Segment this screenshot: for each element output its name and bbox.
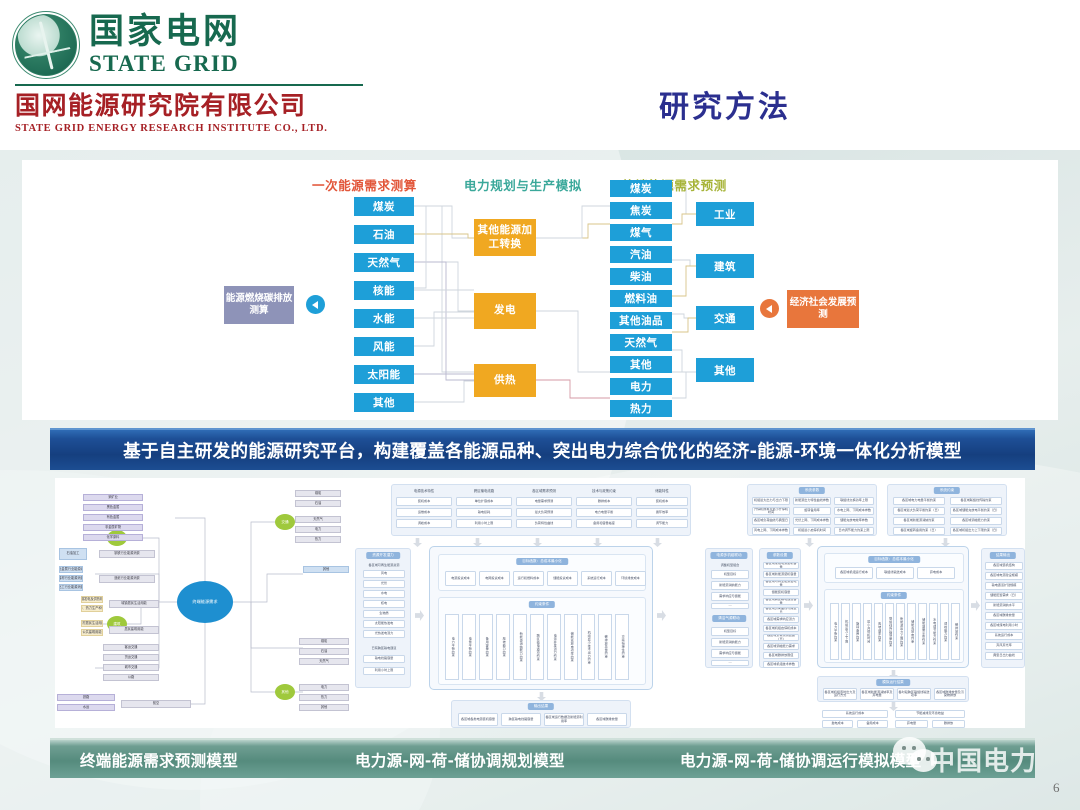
objective-cell: 环境排放成本 [615, 571, 646, 586]
param-cell: 装机成本 [396, 497, 452, 506]
param-cell: 输电损耗 [456, 508, 512, 517]
constraint-cell: 旋转备用约束 [852, 603, 861, 660]
constraint-cell: 电力平衡约束 [830, 603, 839, 660]
param-cell: 各区域碳排放限值 [763, 652, 799, 659]
final-energy-item: 天然气 [610, 334, 672, 351]
flow-arrow-icon [413, 538, 422, 547]
section-head: 调整机型组合 [709, 562, 751, 567]
constraint-cell: 机组最小技术出力约束 [581, 614, 595, 680]
resource-cell: 核电 [363, 600, 405, 608]
carbon-emission-box: 能源燃烧碳排放测算 [224, 286, 294, 324]
model-names-banner: 终端能源需求预测模型 电力源-网-荷-储协调规划模型 电力源-网-荷-储协调运行… [50, 738, 1035, 778]
constraint-cell: 机组出力上下限 [841, 603, 850, 660]
output-cell: 各区域碳排放量及污染物排放 [934, 688, 966, 700]
param-cell: 碳排成本 [576, 497, 632, 506]
sector-item: 交通 [696, 306, 754, 330]
result-cell: 系统运行成本 [985, 632, 1023, 640]
objective-cell: 电源投资成本 [445, 571, 476, 586]
energy-flow-diagram: 一次能源需求测算 电力规划与生产模拟 终端能源需求预测 能源燃烧碳排放测算 煤炭… [22, 160, 1058, 420]
mindmap-leaf: 建材行业能源消费 [59, 575, 83, 582]
summary-cell: 节能减排及环境效益 [895, 710, 965, 718]
mindmap-leaf: 公路 [103, 674, 159, 681]
objective-function-band: 目标函数：总成本最小化 各区域机组运行成本 联络线输送成本 弃电成本 [824, 553, 964, 583]
left-arrow-icon [306, 295, 325, 314]
final-energy-item: 柴油 [610, 268, 672, 285]
primary-energy-item: 石油 [354, 225, 414, 244]
panel-title: 结果输出 [990, 552, 1016, 559]
column-header-primary-energy: 一次能源需求测算 [312, 175, 417, 194]
param-cell: 联络线交换功率上限 [834, 497, 874, 505]
socioeconomic-forecast-box: 经济社会发展预测 [787, 290, 859, 328]
param-cell: 运维成本 [396, 508, 452, 517]
state-grid-logo: 国家电网 STATE GRID 国网能源研究院有限公司 STATE GRID E… [15, 14, 375, 134]
constraint-cell: 电源开发潜力约束 [547, 614, 561, 680]
final-energy-item: 燃料油 [610, 290, 672, 307]
panel-title: 电源多机组联动 [710, 552, 747, 559]
parameter-list-panel: 参数设置 各区域常规电源装机容量 各区域新能源装机容量 各区域可再生能源发电量 … [759, 548, 801, 668]
model-name-label: 终端能源需求预测模型 [80, 749, 238, 771]
mindmap-leaf: 采矿业 [83, 494, 143, 501]
output-cell: 各区域机组逐时出力及运行方式 [823, 688, 857, 700]
panel-title: 资源开发潜力 [366, 552, 400, 559]
resource-cell: 光伏 [363, 580, 405, 588]
brand-name-en: STATE GRID [89, 51, 241, 77]
mindmap-hub: 交通 [275, 514, 295, 530]
mindmap-leaf: 货运交通 [103, 654, 159, 661]
objective-cell: 弃电成本 [917, 567, 955, 579]
planning-model-panel: 电源技术特性 装机成本 运维成本 调峰成本 跨区输电线路 单位扩容成本 输电损耗… [355, 478, 705, 728]
constraint-cell: 储能充放电约束 [907, 603, 916, 660]
param-cell: 光伏上网、下网成本参数 [793, 517, 831, 525]
result-cell: 典型日出力曲线 [985, 652, 1023, 660]
output-title: 模拟运行结果 [876, 679, 910, 686]
resource-cell: 光热发电潜力 [363, 630, 405, 638]
mindmap-leaf: 电力、热力生产和供应 [81, 605, 103, 612]
constraint-cell: 爬坡能力约束 [496, 614, 510, 680]
final-energy-item: 热力 [610, 400, 672, 417]
mindmap-leaf: 铁路 [57, 694, 115, 701]
param-cell: 风电上网、下网成本参数 [752, 527, 790, 535]
simulation-core-model: 目标函数：总成本最小化 各区域机组运行成本 联络线输送成本 弃电成本 约束条件 … [817, 546, 969, 668]
constraints-title: 约束条件 [881, 592, 907, 599]
simulation-output-panel: 模拟运行结果 各区域机组逐时出力及运行方式 各区域新能源消纳率及弃电量 各时段跨… [817, 676, 969, 702]
group-title: 跨区输电线路 [456, 488, 512, 493]
column-header-power-planning: 电力规划与生产模拟 [464, 175, 582, 194]
output-cell: 各区域新能源消纳率及弃电量 [860, 688, 894, 700]
primary-energy-item: 煤炭 [354, 197, 414, 216]
objective-title: 目标函数：总成本最小化 [516, 558, 568, 565]
optimization-core-model: 目标函数：总成本最小化 电源投资成本 电网投资成本 运行和燃料成本 储能投资成本… [429, 546, 653, 690]
output-cell: 各时段跨区联络线输送功率 [897, 688, 931, 700]
operation-simulation-panel: 系统参数 机组最大出力与出力下限 开停机成本及最小开停机时间 各区域负荷曲线与典… [705, 478, 1025, 728]
constraint-cell: 备用容量约束 [479, 614, 493, 680]
sector-item: 建筑 [696, 254, 754, 278]
result-cell: 各区域电源建设规模 [985, 572, 1023, 580]
constraint-cell: 爬坡速率约束 [874, 603, 883, 660]
constraint-cell: 调峰能力约束 [940, 603, 949, 660]
coordination-cell: 机型目标 [711, 627, 749, 636]
param-cell: 循环效率 [636, 508, 688, 517]
constraints-title: 约束条件 [529, 601, 555, 608]
result-cell: 储能配置需求（日） [985, 592, 1023, 600]
flow-arrow-icon [805, 538, 814, 547]
constraint-cell: 各区域联络线传输约束 [950, 497, 1002, 505]
result-cell: 各区域煤电利用小时 [985, 622, 1023, 630]
constraint-cell: 跨区输电通道约束 [530, 614, 544, 680]
mindmap-leaf: 热力 [299, 694, 349, 701]
objective-cell: 运行和燃料成本 [513, 571, 544, 586]
constraint-cell: 电量平衡约束 [462, 614, 476, 680]
mindmap-leaf: 石油 [299, 648, 349, 655]
resource-cell: 输电线路容量 [363, 655, 405, 663]
panel-title: 清洁气源联动 [712, 615, 746, 622]
objective-cell: 系统运行成本 [581, 571, 612, 586]
flow-arrow-icon [653, 538, 662, 547]
result-cell: 新能源消纳水平 [985, 602, 1023, 610]
institute-name-cn: 国网能源研究院有限公司 [15, 92, 375, 121]
mindmap-leaf: 燃煤发电及供热机组 [81, 596, 103, 603]
param-cell: 各区域需求响应潜力 [763, 616, 799, 623]
mindmap-leaf: 电力 [299, 684, 349, 691]
mindmap-leaf: 黑色金属 [83, 504, 143, 511]
coordination-panel: 电源多机组联动 调整机型组合 机型目标 新能源消纳能力 需求响应与储能 … 清洁… [705, 548, 753, 668]
summary-cell: 发电成本 [822, 720, 853, 728]
slide-header: 国家电网 STATE GRID 国网能源研究院有限公司 STATE GRID E… [0, 0, 1080, 150]
final-energy-item: 煤炭 [610, 180, 672, 197]
final-energy-item: 汽油 [610, 246, 672, 263]
primary-energy-item: 天然气 [354, 253, 414, 272]
model-output-panel: 输出结果 各区域各类电源装机容量 跨区输电线路容量 各区域运行数据及新能源利用率… [451, 700, 631, 728]
objective-function-band: 目标函数：总成本最小化 电源投资成本 电网投资成本 运行和燃料成本 储能投资成本… [438, 554, 646, 591]
simulation-summary-panel: 系统运行成本 节能减排及环境效益 发电成本 备用成本 弃电量 碳排放 [817, 710, 969, 728]
logo-brand-row: 国家电网 STATE GRID [15, 14, 375, 77]
mindmap-leaf: 石油加工 [59, 548, 87, 560]
param-cell: 备用和容量裕度 [576, 519, 632, 528]
constraint-cell: 各区域机组出力上下限约束（日） [950, 527, 1002, 535]
param-cell: 单位扩容成本 [456, 497, 512, 506]
input-parameter-groups: 电源技术特性 装机成本 运维成本 调峰成本 跨区输电线路 单位扩容成本 输电损耗… [391, 484, 691, 536]
coordination-cell: … [711, 603, 749, 609]
resource-cell: 水电 [363, 590, 405, 598]
param-cell: 最大负荷预测 [516, 508, 572, 517]
param-cell: 装机成本 [636, 497, 688, 506]
result-cell: 弃风弃光率 [985, 642, 1023, 650]
final-energy-item: 其他油品 [610, 312, 672, 329]
resource-cell: 利用小时上限 [363, 667, 405, 675]
mindmap-leaf: 天然气 [295, 516, 341, 523]
param-cell: 调峰成本 [396, 519, 452, 528]
constraint-cell: 储能充放电功率约束 [564, 614, 578, 680]
constraints-band: 约束条件 电力平衡约束 机组出力上下限 旋转备用约束 最小开停机时间 爬坡速率约… [824, 589, 964, 663]
flow-arrow-icon [804, 600, 813, 611]
param-cell: 各区域机组技术参数 [763, 661, 799, 668]
constraints-band: 约束条件 电力平衡约束 电量平衡约束 备用容量约束 爬坡能力约束 新能源消纳能力… [438, 597, 646, 685]
result-cell: 输电通道扩建规模 [985, 582, 1023, 590]
mindmap-leaf: 钢铁行业能源消费 [99, 550, 155, 558]
panel-title: 参数设置 [767, 552, 793, 559]
model-name-label: 电力源-网-荷-储协调运行模拟模型 [680, 749, 921, 771]
group-title: 系统参数 [799, 487, 825, 494]
mindmap-leaf: 煤炭 [299, 638, 349, 645]
constraint-cell: 新能源消纳能力约束 [513, 614, 527, 680]
mindmap-leaf: 公共建筑用能 [81, 629, 103, 636]
param-cell: 各区域负荷曲线与典型日 [763, 607, 799, 614]
constraint-cell: 各区域储能充放电平衡约束（日） [950, 507, 1002, 515]
output-cell: 各区域各类电源装机容量 [458, 713, 498, 726]
objective-title: 目标函数：总成本最小化 [868, 556, 920, 563]
coordination-cell: 新能源消纳能力 [711, 581, 749, 590]
primary-energy-item: 核能 [354, 281, 414, 300]
resource-potential-panel: 资源开发潜力 各区域可再生能源资源 风电 光伏 水电 核电 生物质 太阳能热发电… [355, 548, 411, 688]
constraint-cell: 各区域旋转备用约束（日） [893, 527, 945, 535]
model-name-label: 电力源-网-荷-储协调规划模型 [355, 749, 565, 771]
param-cell: 各区域可再生能源发电量 [763, 580, 799, 587]
institute-name-en: STATE GRID ENERGY RESEARCH INSTITUTE CO.… [15, 123, 375, 134]
state-grid-globe-icon [15, 14, 77, 76]
section-title: 各区域可再生能源资源 [359, 562, 409, 567]
param-cell: 各区域负荷预测数据（日） [763, 634, 799, 641]
constraint-cell: 各区域调峰能力约束 [950, 517, 1002, 525]
model-architecture-diagram: 终端能源需求 工业 建筑 交通 其他 采矿业 黑色金属 有色金属 非金属矿物 化… [55, 478, 1025, 728]
mindmap-leaf: 造纸行业能源消费 [99, 575, 155, 583]
mindmap-leaf: 化学原料 [83, 534, 143, 541]
constraint-cell: 最小开停机时间 [863, 603, 872, 660]
conversion-process-box: 供热 [474, 364, 536, 397]
section-title: 已有跨区输电通道 [359, 645, 409, 650]
system-parameters-group: 系统参数 机组最大出力与出力下限 开停机成本及最小开停机时间 各区域负荷曲线与典… [747, 484, 877, 536]
output-cell: 各区域运行数据及新能源利用率 [544, 713, 584, 726]
brand-text-block: 国家电网 STATE GRID [89, 14, 241, 77]
param-cell: 各区域常规电源装机容量 [763, 562, 799, 569]
final-energy-item: 煤气 [610, 224, 672, 241]
mindmap-leaf: 煤炭 [295, 490, 341, 497]
mindmap-leaf: 化工行业能源消费 [59, 584, 83, 591]
coordination-cell: 新能源消纳能力 [711, 638, 749, 647]
summary-cell: 碳排放 [932, 720, 965, 728]
output-cell: 各区域碳排放量 [587, 713, 627, 726]
group-title: 各区域需求预测 [516, 488, 572, 493]
brand-name-cn: 国家电网 [89, 14, 241, 51]
param-cell: 储能装机容量 [763, 589, 799, 596]
group-title: 技术与政策约束 [576, 488, 632, 493]
platform-summary-banner: 基于自主研发的能源研究平台，构建覆盖各能源品种、突出电力综合优化的经济-能源-环… [50, 428, 1035, 470]
mindmap-core-node: 终端能源需求 [177, 581, 233, 623]
final-energy-item: 焦炭 [610, 202, 672, 219]
resource-cell: 太阳能热发电 [363, 620, 405, 628]
param-cell: 各区域机组启停机成本 [763, 625, 799, 632]
conversion-process-box: 其他能源加工转换 [474, 219, 536, 256]
mindmap-leaf: 有色金属行业能源消费 [59, 566, 83, 573]
group-title: 电源技术特性 [396, 488, 452, 493]
coordination-cell: 需求响应与储能 [711, 649, 749, 658]
param-cell: 机组最大出力与出力下限 [752, 497, 790, 505]
result-cell: 各区域装机结构 [985, 562, 1023, 570]
output-title: 输出结果 [528, 703, 554, 710]
constraint-cell: 碳排放约束 [951, 603, 960, 660]
mindmap-leaf: 热力 [295, 536, 341, 543]
result-output-panel: 结果输出 各区域装机结构 各区域电源建设规模 输电通道扩建规模 储能配置需求（日… [981, 548, 1025, 668]
mindmap-leaf: 其他 [303, 566, 349, 573]
param-cell: 负荷特性曲线 [516, 519, 572, 528]
param-cell: 开停机成本及最小开停机时间 [752, 507, 790, 515]
flow-arrow-icon [657, 610, 666, 621]
constraint-cell: 新能源出力上限约束 [896, 603, 905, 660]
slide-root: 国家电网 STATE GRID 国网能源研究院有限公司 STATE GRID E… [0, 0, 1080, 810]
primary-energy-item: 太阳能 [354, 365, 414, 384]
constraint-cell: 方案衔接性约束 [615, 614, 629, 680]
coordination-cell: … [711, 660, 749, 666]
objective-cell: 各区域机组运行成本 [835, 567, 873, 579]
mindmap-leaf: 农村居民生活用能 [81, 620, 103, 627]
flow-connectors [22, 160, 1058, 420]
coordination-cell: 需求响应与储能 [711, 592, 749, 601]
primary-energy-item: 风能 [354, 337, 414, 356]
constraint-cell: 碳排放总量约束 [598, 614, 612, 680]
mindmap-leaf: 非金属矿物 [83, 524, 143, 531]
param-cell: 各区域新能源装机容量 [763, 571, 799, 578]
demand-forecast-mindmap: 终端能源需求 工业 建筑 交通 其他 采矿业 黑色金属 有色金属 非金属矿物 化… [55, 478, 355, 728]
final-energy-item: 其他 [610, 356, 672, 373]
constraint-cell: 各区域新能源消纳约束 [893, 517, 945, 525]
constraint-cell: 电力平衡约束 [445, 614, 459, 680]
mindmap-leaf: 石油 [295, 500, 341, 507]
right-arrow-icon [760, 299, 779, 318]
group-title: 系统约束 [934, 487, 960, 494]
constraint-cell: 各区域电力电量平衡约束 [893, 497, 945, 505]
param-cell: 机组最小启停机时间 [793, 527, 831, 535]
summary-cell: 系统运行成本 [822, 710, 888, 718]
resource-cell: 生物质 [363, 610, 405, 618]
primary-energy-item: 其他 [354, 393, 414, 412]
constraint-cell: 联络线传输容量约束 [885, 603, 894, 660]
coordination-cell: 机型目标 [711, 570, 749, 579]
system-constraints-group: 系统约束 各区域电力电量平衡约束 各区域最大负荷平衡约束（日） 各区域新能源消纳… [887, 484, 1007, 536]
constraint-cell: 各区域最大负荷平衡约束（日） [893, 507, 945, 515]
constraint-cell: 储能容量平衡约束 [918, 603, 927, 660]
conversion-process-box: 发电 [474, 293, 536, 329]
mindmap-leaf: 水运 [57, 704, 115, 711]
flow-arrow-icon [971, 600, 980, 611]
final-energy-item: 电力 [610, 378, 672, 395]
sector-item: 其他 [696, 358, 754, 382]
mindmap-leaf: 居民建筑用能 [109, 626, 159, 634]
param-cell: 各区域跨区输电通道容量 [763, 598, 799, 605]
param-cell: 日内调节能力约束上限 [834, 527, 874, 535]
platform-summary-text: 基于自主研发的能源研究平台，构建覆盖各能源品种、突出电力综合优化的经济-能源-环… [123, 438, 962, 463]
resource-cell: 风电 [363, 570, 405, 578]
mindmap-leaf: 航空 [121, 700, 191, 708]
param-cell: 水电上网、下网成本参数 [834, 507, 874, 515]
mindmap-leaf: 客运交通 [103, 644, 159, 651]
constraint-cell: 水电调节能力约束 [929, 603, 938, 660]
objective-cell: 储能投资成本 [547, 571, 578, 586]
param-cell: 电力电量平衡 [576, 508, 632, 517]
param-cell: 新能源出力特性曲线参数 [793, 497, 831, 505]
primary-energy-item: 水能 [354, 309, 414, 328]
emblem-ring [12, 11, 80, 79]
summary-cell: 弃电量 [895, 720, 928, 728]
page-title: 研究方法 [560, 82, 890, 126]
mindmap-leaf: 城镇居民生活用能 [109, 600, 159, 608]
result-cell: 各区域碳排放量 [985, 612, 1023, 620]
mindmap-leaf: 天然气 [299, 658, 349, 665]
objective-cell: 联络线输送成本 [876, 567, 914, 579]
param-cell: 旋转备用率 [793, 507, 831, 515]
logo-divider [15, 84, 363, 86]
param-cell: 调节能力 [636, 519, 688, 528]
objective-cell: 电网投资成本 [479, 571, 510, 586]
sector-item: 工业 [696, 202, 754, 226]
param-cell: 各区域负荷曲线与典型日 [752, 517, 790, 525]
mindmap-leaf: 城市交通 [103, 664, 159, 671]
mindmap-leaf: 电力 [295, 526, 341, 533]
page-number: 6 [1053, 780, 1060, 796]
flow-arrow-icon [415, 610, 424, 621]
param-cell: 各区域调峰能力需求 [763, 643, 799, 650]
param-cell: 储能充放电效率参数 [834, 517, 874, 525]
mindmap-leaf: 其他 [299, 704, 349, 711]
param-cell: 利用小时上限 [456, 519, 512, 528]
mindmap-leaf: 有色金属 [83, 514, 143, 521]
group-title: 储能特性 [636, 488, 688, 493]
output-cell: 跨区输电线路容量 [501, 713, 541, 726]
param-cell: 电量需求预测 [516, 497, 572, 506]
summary-cell: 备用成本 [857, 720, 888, 728]
mindmap-hub: 其他 [275, 684, 295, 700]
